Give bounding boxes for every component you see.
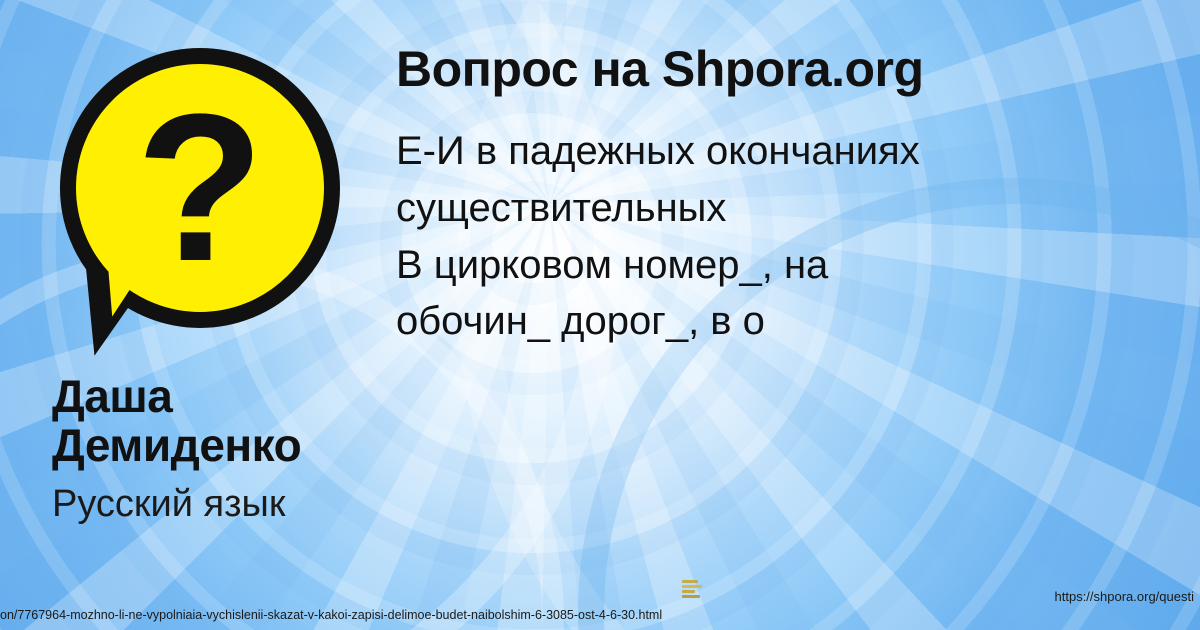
- footer-url-left[interactable]: on/7767964-mozhno-li-ne-vypolniaia-vychi…: [0, 608, 662, 622]
- question-mark-glyph: ?: [60, 48, 340, 328]
- page-title: Вопрос на Shpora.org: [396, 42, 1156, 97]
- question-line-2: существительных: [396, 180, 1156, 237]
- question-line-3: В цирковом номер_, на: [396, 237, 1156, 294]
- author-name-line-2: Демиденко: [52, 421, 382, 470]
- question-line-4: обочин_ дорог_, в о: [396, 293, 1156, 350]
- question-line-1: Е-И в падежных окончаниях: [396, 123, 1156, 180]
- author-subject: Русский язык: [52, 484, 382, 526]
- question-text: Е-И в падежных окончаниях существительны…: [396, 123, 1156, 350]
- question-speech-bubble-icon: ?: [48, 38, 358, 358]
- author-block: Даша Демиденко Русский язык: [52, 372, 382, 525]
- footer-url-right[interactable]: https://shpora.org/questi: [1055, 589, 1194, 604]
- main-column: Вопрос на Shpora.org Е-И в падежных окон…: [396, 42, 1156, 350]
- share-card: ? Даша Демиденко Русский язык Вопрос на …: [0, 0, 1200, 630]
- lines-badge-icon: [682, 578, 704, 598]
- author-name-line-1: Даша: [52, 372, 382, 421]
